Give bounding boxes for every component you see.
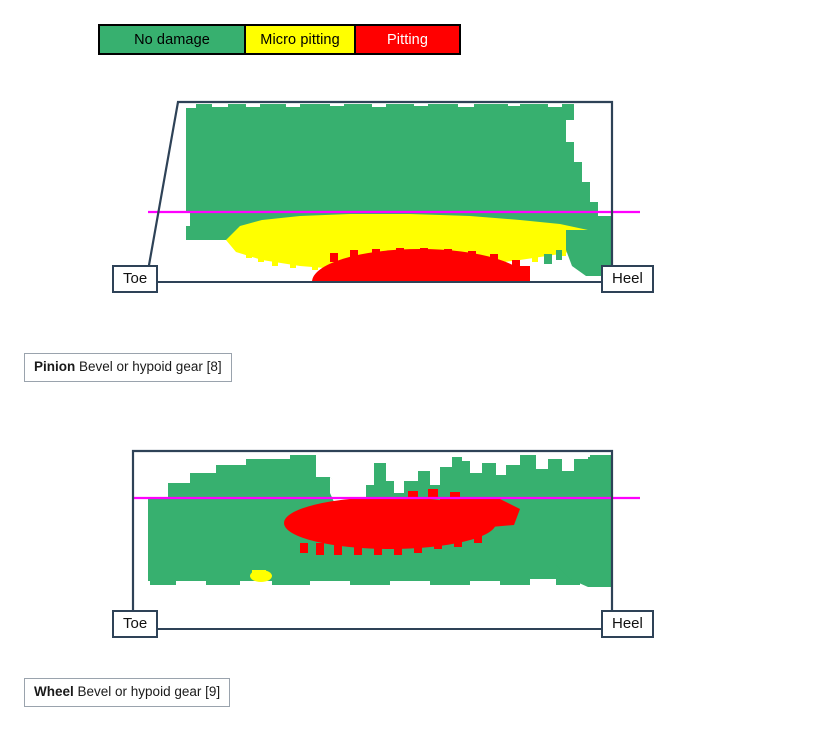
pinion-heel-text: Heel xyxy=(612,270,643,287)
legend-label-no-damage: No damage xyxy=(134,32,210,48)
damage-legend: No damage Micro pitting Pitting xyxy=(98,24,461,55)
pinion-toe-text: Toe xyxy=(123,270,147,287)
wheel-damage-field xyxy=(133,451,612,652)
pinion-caption-rest: Bevel or hypoid gear [8] xyxy=(75,359,221,374)
pinion-gear-name: Pinion xyxy=(34,359,75,374)
pinion-heel-label: Heel xyxy=(601,265,654,293)
pinion-caption: Pinion Bevel or hypoid gear [8] xyxy=(24,353,232,382)
legend-label-micro-pitting: Micro pitting xyxy=(260,32,339,48)
wheel-gear-name: Wheel xyxy=(34,684,74,699)
legend-item-pitting: Pitting xyxy=(354,26,459,53)
legend-label-pitting: Pitting xyxy=(387,32,428,48)
wheel-toe-label: Toe xyxy=(112,610,158,638)
wheel-micro-pitting-region xyxy=(250,570,272,582)
pinion-toe-label: Toe xyxy=(112,265,158,293)
wheel-heel-text: Heel xyxy=(612,615,643,632)
wheel-caption-rest: Bevel or hypoid gear [9] xyxy=(74,684,220,699)
wheel-caption: Wheel Bevel or hypoid gear [9] xyxy=(24,678,230,707)
legend-item-no-damage: No damage xyxy=(100,26,244,53)
legend-item-micro-pitting: Micro pitting xyxy=(244,26,354,53)
wheel-toe-text: Toe xyxy=(123,615,147,632)
wheel-heel-label: Heel xyxy=(601,610,654,638)
